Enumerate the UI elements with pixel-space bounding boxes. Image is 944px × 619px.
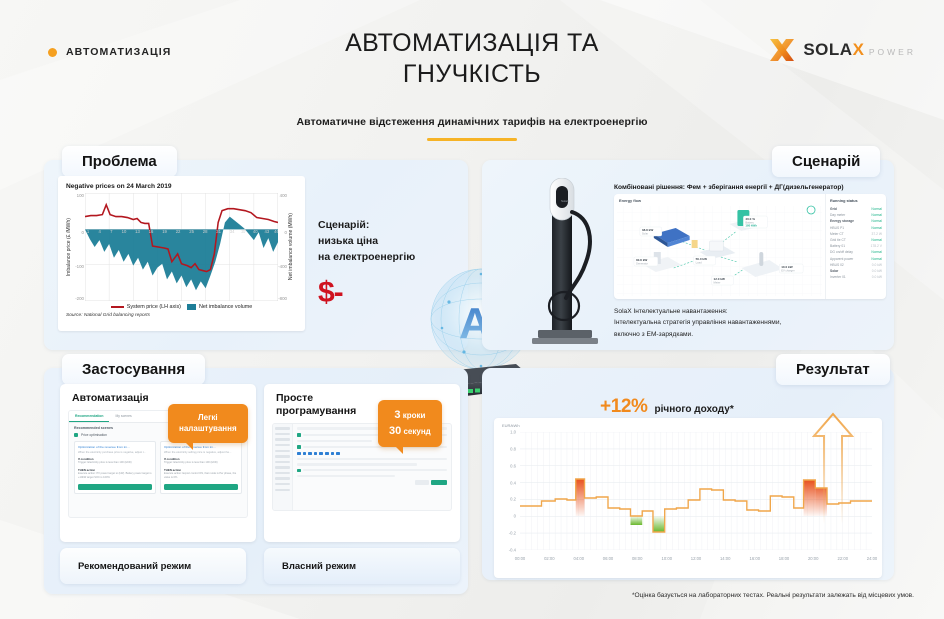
svg-text:10: 10 — [122, 229, 127, 234]
scenario-caption-line-3: включно з ЕМ-зарядками. — [614, 329, 890, 340]
svg-text:50.0 kW: 50.0 kW — [696, 257, 708, 261]
rule-card[interactable]: Optimization of the revenue from im... W… — [74, 441, 156, 494]
middle-scenario-line-3: на електроенергію — [318, 250, 415, 266]
rule-card-then-text: Execute action: PV power target to (kW).… — [78, 472, 152, 480]
rule-card-if-text: Trigger: Electricity price is less than … — [78, 461, 152, 465]
callout-steps-seconds-label: секунд — [403, 427, 430, 436]
result-percent: +12% — [600, 396, 648, 418]
tab-own-mode[interactable]: Власний режим — [264, 548, 460, 584]
programming-side-nav[interactable] — [273, 424, 293, 510]
logo-subtext: POWER — [869, 47, 916, 57]
dollar-down-icon: $- — [318, 276, 343, 310]
svg-text:22: 22 — [176, 229, 181, 234]
problem-chart-title: Negative prices on 24 March 2019 — [66, 183, 297, 190]
legend-area-label: Net imbalance volume — [199, 304, 252, 310]
rule-card-then-text: Execute action: Export control ON, that … — [164, 472, 238, 480]
middle-scenario-line-2: низька ціна — [318, 234, 415, 250]
automation-rule-cards: Optimization of the revenue from im... W… — [69, 439, 247, 496]
problem-chart-y-left-label: Imbalance price (£ /MWh) — [66, 218, 75, 276]
svg-text:SolaX: SolaX — [561, 199, 569, 203]
rule-card-if-text: Trigger: Electricity price is less than … — [164, 461, 238, 465]
tab-apply[interactable]: Застосування — [62, 354, 205, 385]
ev-charger-image: SolaX — [528, 178, 608, 346]
svg-text:EV charger: EV charger — [781, 269, 795, 273]
svg-text:40: 40 — [253, 229, 258, 234]
svg-text:30.8 kW: 30.8 kW — [636, 258, 648, 262]
svg-text:31: 31 — [216, 229, 221, 234]
result-headline: +12% річного доходу* — [600, 396, 734, 418]
svg-text:12.0 kW: 12.0 kW — [714, 277, 726, 281]
result-footnote: *Оцінка базується на лабораторних тестах… — [0, 592, 914, 599]
check-square-icon — [74, 433, 78, 437]
scenario-caption-line-1: SolaX Інтелектуальне навантаження: — [614, 306, 890, 317]
callout-steps-line-2: 30 секунд — [389, 424, 431, 440]
problem-chart-card: Negative prices on 24 March 2019 Imbalan… — [58, 176, 305, 331]
programming-row — [297, 469, 447, 473]
problem-chart-y-right-ticks: 4000-400-800 — [278, 193, 288, 301]
callout-steps-line-1: 3 кроки — [389, 408, 431, 424]
tab-problem[interactable]: Проблема — [62, 146, 177, 177]
tab-scenario[interactable]: Сценарій — [772, 146, 880, 177]
callout-easy-line-2: налаштування — [179, 423, 237, 434]
rule-card-sub: When the electricity selling price is ne… — [164, 451, 238, 454]
scenario-energy-flow-card: Energy flow — [614, 194, 886, 299]
callout-steps-seconds: 30 — [389, 425, 401, 437]
middle-scenario-text: Сценарій: низька ціна на електроенергію — [318, 218, 415, 265]
rule-card-title: Optimization of the revenue from im... — [164, 445, 238, 449]
result-chart-y-unit: EUR/kWh — [502, 423, 520, 428]
legend-line-icon — [111, 306, 124, 308]
brand-logo: SOLAX POWER — [767, 36, 916, 64]
problem-chart-y-left-ticks: 1000-100-200 — [75, 193, 85, 301]
svg-text:10.0 kW: 10.0 kW — [781, 265, 793, 269]
tab-result[interactable]: Результат — [776, 354, 890, 385]
result-percent-label: річного доходу* — [655, 404, 734, 415]
problem-chart-y-right-label: Net imbalance volume (MWh) — [288, 213, 297, 280]
ui-tab-recommendation[interactable]: Recommendation — [69, 411, 109, 422]
logo-text: SOLAX POWER — [803, 41, 916, 59]
problem-chart-plot: 147 101316 192225 283134 374043 46 — [85, 193, 278, 301]
svg-text:38.8 kW: 38.8 kW — [642, 228, 654, 232]
legend-item-area: Net imbalance volume — [187, 304, 252, 310]
running-status-title: Running status — [830, 199, 882, 203]
rule-card-title: Optimization of the revenue from im... — [78, 445, 152, 449]
running-status-list: Running status GridNormal Day meterNorma… — [826, 194, 886, 299]
svg-text:19: 19 — [162, 229, 167, 234]
callout-easy-setup: Легкі налаштування — [168, 404, 248, 443]
solax-x-icon — [767, 36, 797, 64]
callout-easy-line-1: Легкі — [179, 412, 237, 423]
subtitle-rule — [427, 138, 517, 141]
automation-price-chip-label: Price optimisation — [81, 433, 107, 437]
result-chart-x-ticks: 00:0002:0004:00 06:0008:0010:00 12:0014:… — [520, 556, 872, 566]
svg-text:Meter: Meter — [714, 281, 721, 285]
svg-text:Generator: Generator — [636, 262, 648, 266]
tab-recommended-mode[interactable]: Рекомендований режим — [60, 548, 246, 584]
svg-text:Load: Load — [696, 261, 702, 265]
rule-card-apply-button[interactable] — [164, 484, 238, 490]
legend-item-line: System price (LH axis) — [111, 304, 181, 310]
svg-text:13: 13 — [135, 229, 140, 234]
callout-steps-count-label: кроки — [403, 411, 426, 420]
rule-card[interactable]: Optimization of the revenue from im... W… — [160, 441, 242, 494]
scenario-caption-line-2: Інтелектуальна стратегія управління нава… — [614, 317, 890, 328]
svg-text:25: 25 — [189, 229, 194, 234]
programming-row — [297, 452, 447, 456]
rule-card-sub: When the electricity purchase price is n… — [78, 451, 152, 454]
logo-wordmark: SOLAX — [803, 40, 864, 59]
scenario-caption: SolaX Інтелектуальне навантаження: Інтел… — [614, 306, 890, 340]
svg-text:34: 34 — [230, 229, 235, 234]
result-chart-y-ticks: 1.00.80.6 0.40.20 -0.2-0.4 — [496, 432, 518, 550]
programming-footer-actions — [297, 480, 447, 485]
svg-text:43: 43 — [264, 229, 269, 234]
svg-text:180 kWh: 180 kWh — [745, 224, 757, 228]
energy-flow-diagram: Energy flow — [614, 194, 826, 299]
legend-line-label: System price (LH axis) — [127, 304, 181, 310]
scenario-card-title: Комбіновані рішення: Фем + зберігання ен… — [614, 184, 886, 191]
callout-steps: 3 кроки 30 секунд — [378, 400, 442, 447]
arrow-up-icon — [812, 412, 854, 524]
problem-chart-legend: System price (LH axis) Net imbalance vol… — [66, 304, 297, 310]
ui-tab-my-scenes[interactable]: My scenes — [109, 411, 137, 422]
subtitle: Автоматичне відстеження динамічних тариф… — [0, 116, 944, 128]
legend-area-icon — [187, 304, 196, 310]
problem-chart-source: Source: National Grid balancing reports — [66, 313, 297, 318]
svg-text:Solar: Solar — [642, 232, 648, 236]
middle-scenario-line-1: Сценарій: — [318, 218, 415, 234]
automation-card-title: Автоматизація — [60, 384, 256, 405]
status-row[interactable]: Inverter 010.0 kW — [830, 274, 882, 280]
svg-text:16: 16 — [149, 229, 154, 234]
callout-steps-count: 3 — [394, 409, 400, 421]
rule-card-apply-button[interactable] — [78, 484, 152, 490]
svg-text:37: 37 — [241, 229, 246, 234]
svg-text:28: 28 — [203, 229, 208, 234]
